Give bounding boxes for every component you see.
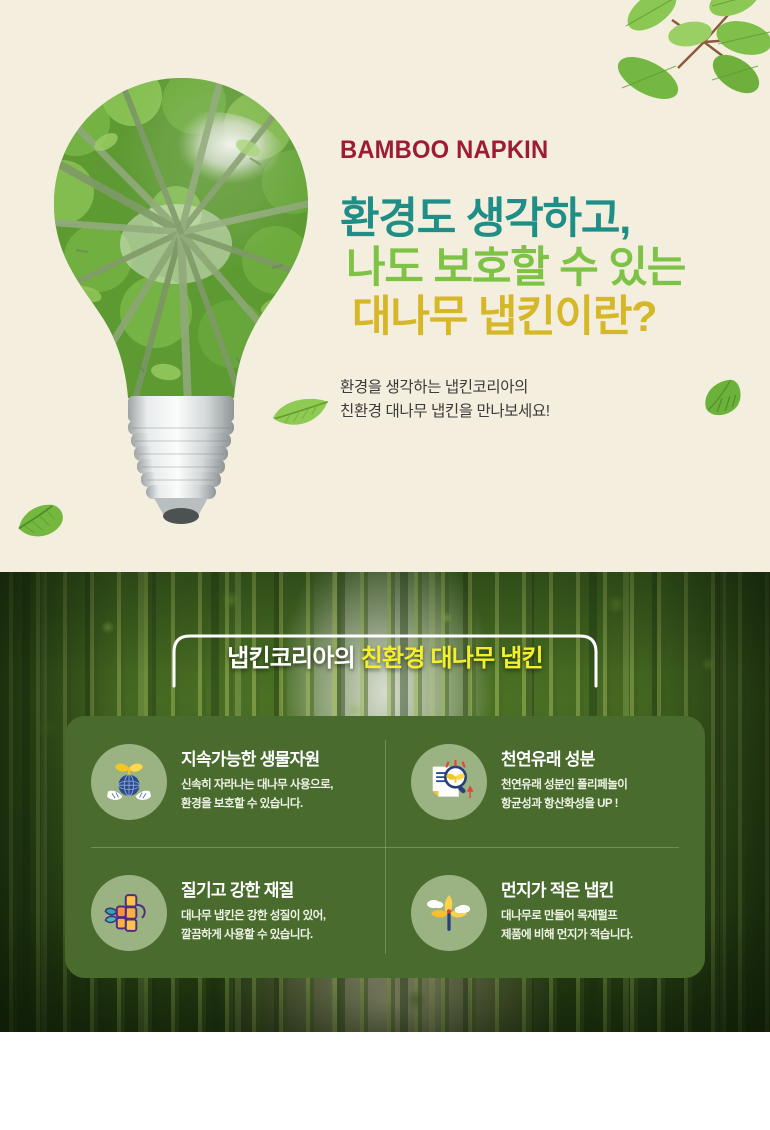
feature-text: 질기고 강한 재질 대나무 냅킨은 강한 성질이 있어, 깔끔하게 사용할 수 … bbox=[181, 881, 326, 945]
hero-text-block: BAMBOO NAPKIN 환경도 생각하고, 나도 보호할 수 있는 대나무 … bbox=[340, 138, 750, 424]
feature-text: 먼지가 적은 냅킨 대나무로 만들어 목재펄프 제품에 비해 먼지가 적습니다. bbox=[501, 881, 633, 945]
feature-text: 지속가능한 생물자원 신속히 자라나는 대나무 사용으로, 환경을 보호할 수 … bbox=[181, 750, 333, 814]
globe-in-hands-sprout-icon bbox=[91, 744, 167, 820]
feature-title: 먼지가 적은 냅킨 bbox=[501, 881, 633, 901]
headline-line-1: 환경도 생각하고, bbox=[340, 195, 750, 244]
feature-desc: 신속히 자라나는 대나무 사용으로, 환경을 보호할 수 있습니다. bbox=[181, 776, 333, 813]
bamboo-forest-lightbulb-icon bbox=[36, 62, 326, 532]
headline-line-2: 나도 보호할 수 있는 bbox=[346, 244, 750, 293]
feature-title: 지속가능한 생물자원 bbox=[181, 750, 333, 770]
sprout-clouds-icon bbox=[411, 875, 487, 951]
feature-panel: 지속가능한 생물자원 신속히 자라나는 대나무 사용으로, 환경을 보호할 수 … bbox=[65, 716, 705, 978]
hero-section: BAMBOO NAPKIN 환경도 생각하고, 나도 보호할 수 있는 대나무 … bbox=[0, 0, 770, 572]
section-title-plain: 냅킨코리아의 bbox=[227, 645, 355, 672]
page-title: 환경도 생각하고, 나도 보호할 수 있는 대나무 냅킨이란? bbox=[340, 195, 750, 342]
document-magnifier-sprout-icon bbox=[411, 744, 487, 820]
feature-desc: 대나무로 만들어 목재펄프 제품에 비해 먼지가 적습니다. bbox=[501, 907, 633, 944]
feature-card: 천연유래 성분 천연유래 성분인 폴리페놀이 항균성과 항산화성을 UP ! bbox=[385, 716, 705, 847]
feature-desc: 대나무 냅킨은 강한 성질이 있어, 깔끔하게 사용할 수 있습니다. bbox=[181, 907, 326, 944]
hero-subcopy: 환경을 생각하는 냅킨코리아의 친환경 대나무 냅킨을 만나보세요! bbox=[340, 376, 750, 424]
feature-desc: 천연유래 성분인 폴리페놀이 항균성과 항산화성을 UP ! bbox=[501, 776, 627, 813]
bamboo-stalk-leaves-icon bbox=[91, 875, 167, 951]
feature-card: 지속가능한 생물자원 신속히 자라나는 대나무 사용으로, 환경을 보호할 수 … bbox=[65, 716, 385, 847]
eyebrow-label: BAMBOO NAPKIN bbox=[340, 138, 730, 163]
small-leaf-icon bbox=[269, 388, 330, 435]
section-title-accent: 친환경 대나무 냅킨 bbox=[361, 645, 543, 672]
headline-line-3: 대나무 냅킨이란? bbox=[352, 293, 750, 342]
section-title: 냅킨코리아의 친환경 대나무 냅킨 bbox=[0, 638, 770, 673]
subcopy-line-2: 친환경 대나무 냅킨을 만나보세요! bbox=[340, 400, 750, 424]
feature-card: 질기고 강한 재질 대나무 냅킨은 강한 성질이 있어, 깔끔하게 사용할 수 … bbox=[65, 847, 385, 978]
feature-title: 질기고 강한 재질 bbox=[181, 881, 326, 901]
subcopy-line-1: 환경을 생각하는 냅킨코리아의 bbox=[340, 376, 750, 400]
feature-card: 먼지가 적은 냅킨 대나무로 만들어 목재펄프 제품에 비해 먼지가 적습니다. bbox=[385, 847, 705, 978]
section-heading: 냅킨코리아의 친환경 대나무 냅킨 bbox=[0, 620, 770, 692]
feature-title: 천연유래 성분 bbox=[501, 750, 627, 770]
feature-text: 천연유래 성분 천연유래 성분인 폴리페놀이 항균성과 항산화성을 UP ! bbox=[501, 750, 627, 814]
